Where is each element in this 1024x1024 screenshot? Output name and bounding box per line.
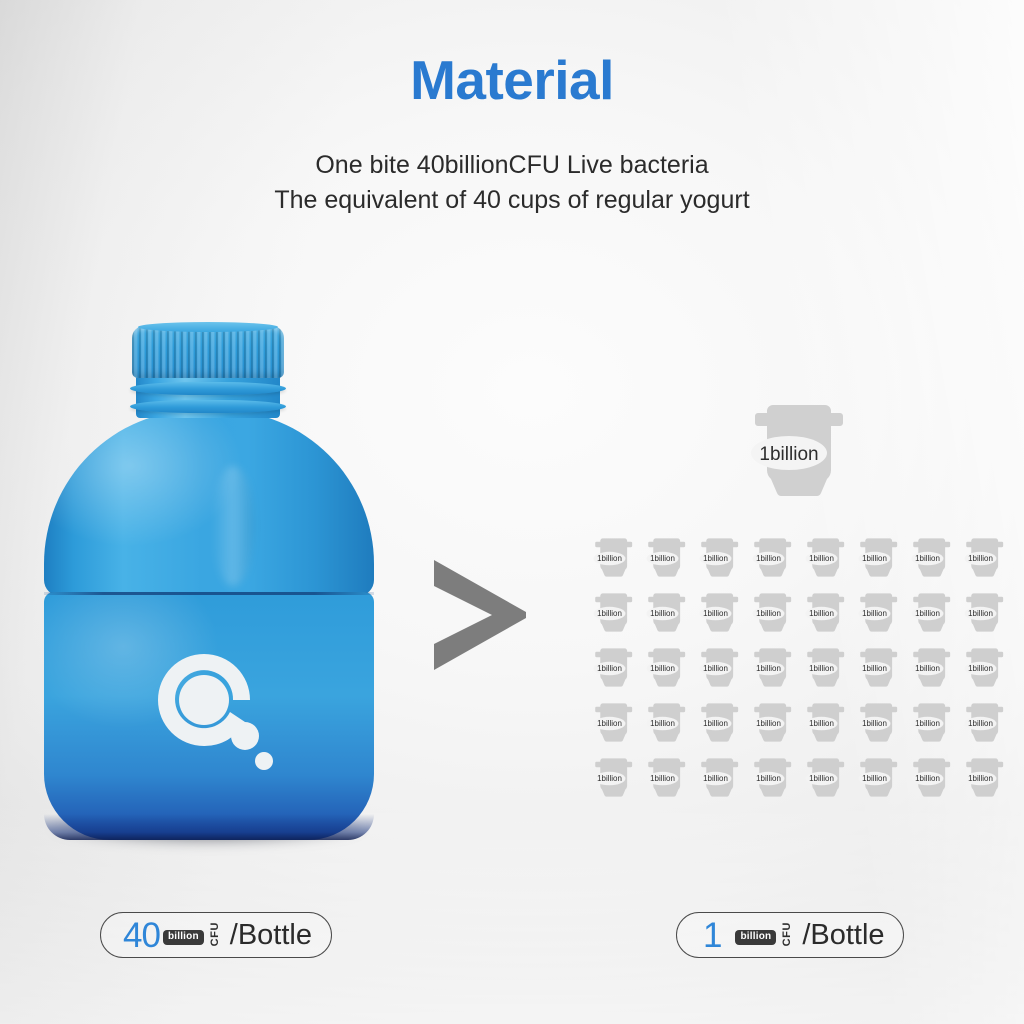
- yogurt-cup-label: 1billion: [703, 774, 728, 783]
- bottle-body-upper: [44, 410, 374, 596]
- yogurt-cup-label: 1billion: [703, 554, 728, 563]
- yogurt-cup: 1billion: [639, 751, 686, 801]
- badge-right-per-bottle: /Bottle: [802, 921, 884, 950]
- yogurt-cup-label: 1billion: [703, 609, 728, 618]
- yogurt-cup: 1billion: [586, 641, 633, 691]
- yogurt-cup-label: 1billion: [915, 774, 940, 783]
- yogurt-cup-label: 1billion: [809, 664, 834, 673]
- yogurt-cup: 1billion: [745, 586, 792, 636]
- yogurt-cup-label: 1billion: [915, 554, 940, 563]
- yogurt-cup: 1billion: [798, 531, 845, 581]
- yogurt-cup: 1billion: [957, 751, 1004, 801]
- badge-yogurt-1-billion: 1 billion CFU /Bottle: [676, 912, 904, 958]
- yogurt-cup: 1billion: [639, 641, 686, 691]
- probiotic-bottle: [44, 300, 374, 860]
- page-title: Material: [0, 52, 1024, 110]
- greater-than-icon: [428, 556, 526, 674]
- yogurt-cup: 1billion: [639, 586, 686, 636]
- yogurt-cup: 1billion: [586, 531, 633, 581]
- yogurt-cup-label: 1billion: [968, 774, 993, 783]
- badge-right-billion-chip: billion: [735, 930, 776, 945]
- badge-left-per-bottle: /Bottle: [230, 921, 312, 950]
- yogurt-cup-label: 1billion: [650, 664, 675, 673]
- yogurt-cup: 1billion: [851, 696, 898, 746]
- yogurt-cup-label: 1billion: [650, 719, 675, 728]
- yogurt-cup-label: 1billion: [650, 609, 675, 618]
- yogurt-cup: 1billion: [745, 751, 792, 801]
- q-circle-logo-icon: [152, 648, 278, 780]
- yogurt-cup-label: 1billion: [862, 774, 887, 783]
- infographic-canvas: Material One bite 40billionCFU Live bact…: [0, 0, 1024, 1024]
- yogurt-cup-label: 1billion: [809, 609, 834, 618]
- yogurt-cup: 1billion: [798, 751, 845, 801]
- yogurt-cup: 1billion: [957, 641, 1004, 691]
- yogurt-cup-label: 1billion: [756, 609, 781, 618]
- yogurt-cup-label: 1billion: [862, 554, 887, 563]
- yogurt-cup-label: 1billion: [703, 664, 728, 673]
- yogurt-cup-label: 1billion: [650, 554, 675, 563]
- yogurt-cup-label: 1billion: [597, 664, 622, 673]
- yogurt-cup: 1billion: [745, 696, 792, 746]
- bottle-neck-ring-lower: [130, 400, 286, 413]
- yogurt-cup-label: 1billion: [809, 719, 834, 728]
- yogurt-cup: 1billion: [957, 586, 1004, 636]
- yogurt-cup: 1billion: [586, 751, 633, 801]
- yogurt-cup: 1billion: [692, 696, 739, 746]
- yogurt-cup: 1billion: [904, 751, 951, 801]
- yogurt-cup: 1billion: [851, 751, 898, 801]
- bottle-cap: [132, 326, 284, 378]
- yogurt-cup-label: 1billion: [915, 664, 940, 673]
- yogurt-cup-label: 1billion: [597, 609, 622, 618]
- yogurt-cup-label: 1billion: [809, 554, 834, 563]
- yogurt-cup-label: 1billion: [968, 719, 993, 728]
- yogurt-cup-label: 1billion: [915, 719, 940, 728]
- badge-left-unit: billion CFU: [163, 922, 221, 947]
- badge-left-billion-chip: billion: [163, 930, 204, 945]
- yogurt-cup-label: 1billion: [756, 664, 781, 673]
- yogurt-cup-label: 1billion: [597, 719, 622, 728]
- badge-left-cfu-label: CFU: [209, 922, 221, 946]
- yogurt-cup: 1billion: [586, 586, 633, 636]
- yogurt-cup-label: 1billion: [756, 719, 781, 728]
- yogurt-cup-label: 1billion: [968, 554, 993, 563]
- yogurt-cup: 1billion: [692, 531, 739, 581]
- featured-yogurt-cup: 1billion: [733, 391, 845, 503]
- yogurt-cup: 1billion: [904, 696, 951, 746]
- featured-cup-label: 1billion: [759, 444, 818, 465]
- yogurt-cup: 1billion: [904, 641, 951, 691]
- yogurt-cup: 1billion: [851, 586, 898, 636]
- subtitle-line-1: One bite 40billionCFU Live bacteria: [0, 148, 1024, 183]
- yogurt-cup: 1billion: [745, 531, 792, 581]
- yogurt-cup: 1billion: [957, 696, 1004, 746]
- yogurt-cup-label: 1billion: [597, 554, 622, 563]
- subtitle-line-2: The equivalent of 40 cups of regular yog…: [0, 183, 1024, 218]
- yogurt-cup: 1billion: [904, 586, 951, 636]
- yogurt-cup: 1billion: [851, 641, 898, 691]
- yogurt-cup: 1billion: [586, 696, 633, 746]
- badge-right-unit: billion CFU: [735, 922, 793, 947]
- yogurt-cup: 1billion: [692, 751, 739, 801]
- yogurt-cup: 1billion: [798, 641, 845, 691]
- badge-right-cfu-label: CFU: [781, 922, 793, 946]
- yogurt-cup-grid: 1billion1billion1billion1billion1billion…: [586, 531, 986, 806]
- page-subtitle: One bite 40billionCFU Live bacteria The …: [0, 148, 1024, 217]
- yogurt-cup-label: 1billion: [756, 774, 781, 783]
- yogurt-cup-label: 1billion: [703, 719, 728, 728]
- yogurt-cup: 1billion: [957, 531, 1004, 581]
- yogurt-cup: 1billion: [639, 531, 686, 581]
- bottle-neck-ring-upper: [130, 382, 286, 395]
- yogurt-cup-label: 1billion: [597, 774, 622, 783]
- yogurt-cup: 1billion: [798, 696, 845, 746]
- yogurt-cup: 1billion: [904, 531, 951, 581]
- yogurt-cup: 1billion: [639, 696, 686, 746]
- yogurt-cup-label: 1billion: [862, 664, 887, 673]
- badge-right-number: 1: [703, 918, 721, 953]
- yogurt-cup-label: 1billion: [862, 609, 887, 618]
- yogurt-cup-label: 1billion: [650, 774, 675, 783]
- yogurt-cup: 1billion: [745, 641, 792, 691]
- yogurt-cup-label: 1billion: [809, 774, 834, 783]
- yogurt-cup: 1billion: [692, 586, 739, 636]
- yogurt-cup: 1billion: [851, 531, 898, 581]
- yogurt-cup: 1billion: [692, 641, 739, 691]
- badge-left-number: 40: [123, 918, 160, 953]
- yogurt-cup: 1billion: [798, 586, 845, 636]
- yogurt-cup-label: 1billion: [862, 719, 887, 728]
- yogurt-cup-label: 1billion: [915, 609, 940, 618]
- yogurt-cup-label: 1billion: [968, 664, 993, 673]
- yogurt-cup-label: 1billion: [756, 554, 781, 563]
- badge-bottle-40-billion: 40 billion CFU /Bottle: [100, 912, 332, 958]
- yogurt-cup-label: 1billion: [968, 609, 993, 618]
